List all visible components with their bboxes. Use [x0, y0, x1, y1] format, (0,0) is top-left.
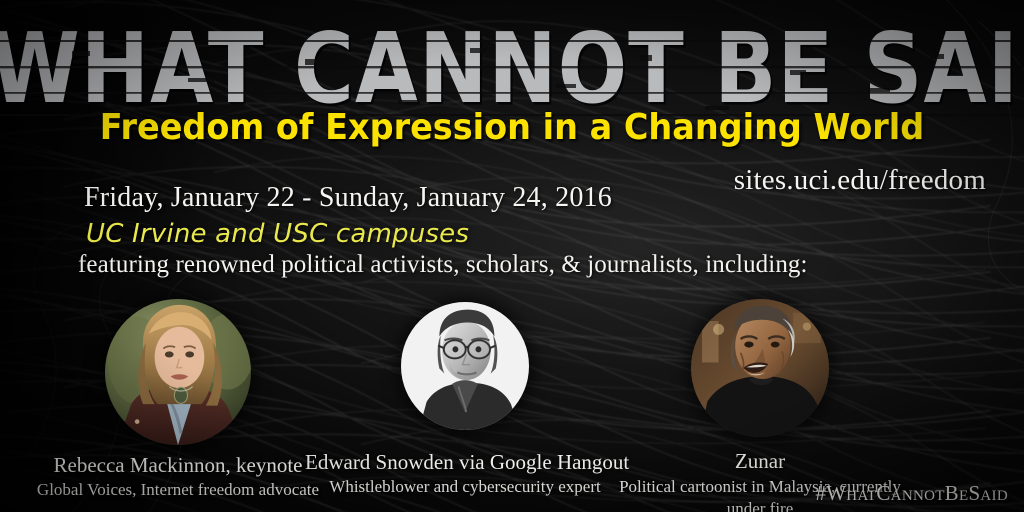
zunar-portrait — [691, 299, 829, 437]
rebecca-mackinnon-portrait — [105, 299, 251, 445]
featuring-line: featuring renowned political activists, … — [78, 251, 808, 279]
speaker-name: Rebecca Mackinnon, keynote — [18, 453, 338, 478]
event-venues: UC Irvine and USC campuses — [86, 219, 469, 249]
event-website-url[interactable]: sites.uci.edu/freedom — [734, 164, 986, 197]
event-poster: WHAT CANNOT BE SAID Freedom of Expressio… — [0, 0, 1024, 512]
speaker-card-edward-snowden: Edward Snowden via Google Hangout Whistl… — [305, 302, 625, 497]
event-dates: Friday, January 22 - Sunday, January 24,… — [84, 182, 612, 214]
page-subtitle: Freedom of Expression in a Changing Worl… — [36, 106, 988, 150]
speaker-card-rebecca-mackinnon: Rebecca Mackinnon, keynote Global Voices… — [18, 299, 338, 500]
speaker-role: Global Voices, Internet freedom advocate — [18, 480, 338, 500]
speaker-name: Zunar — [600, 449, 920, 474]
edward-snowden-portrait — [401, 302, 529, 430]
event-hashtag: #WhatCannotBeSaid — [815, 481, 1008, 506]
speaker-role: Whistleblower and cybersecurity expert — [305, 477, 625, 497]
speaker-name: Edward Snowden via Google Hangout — [305, 450, 625, 475]
